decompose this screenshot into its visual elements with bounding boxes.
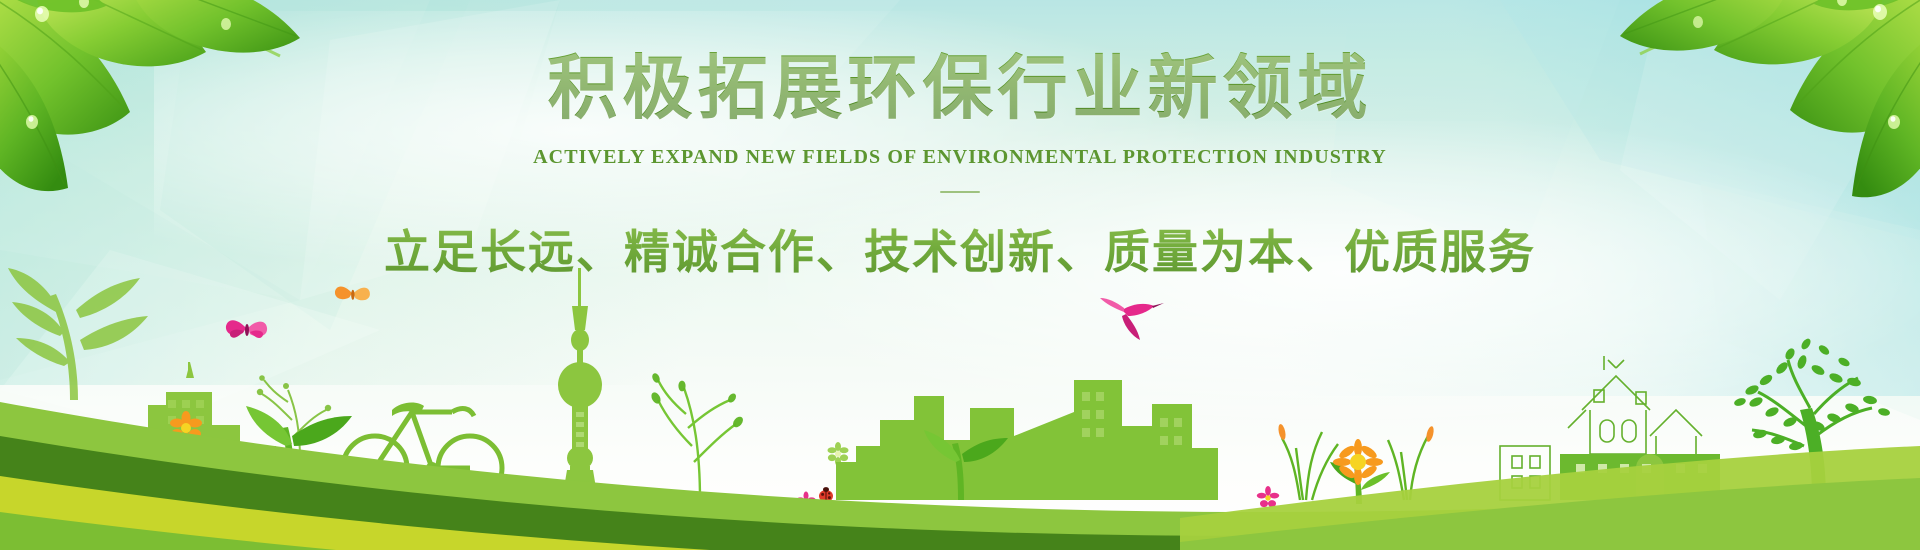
flower-icon	[1257, 486, 1279, 507]
sprout-icon	[8, 268, 148, 400]
page-title: 积极拓展环保行业新领域	[0, 52, 1920, 128]
headline-block: 积极拓展环保行业新领域 ACTIVELY EXPAND NEW FIELDS O…	[0, 52, 1920, 282]
slogan-text: 立足长远、精诚合作、技术创新、质量为本、优质服务	[0, 216, 1920, 282]
butterfly-icon	[226, 320, 267, 338]
cattail-icon	[1277, 424, 1287, 441]
house-icon	[1568, 356, 1702, 460]
scenery-layer	[0, 250, 1920, 550]
grass-icon	[1282, 432, 1338, 500]
eco-banner: 积极拓展环保行业新领域 ACTIVELY EXPAND NEW FIELDS O…	[0, 0, 1920, 550]
title-divider	[940, 191, 980, 193]
butterfly-icon	[335, 286, 370, 300]
grass-icon	[658, 380, 736, 500]
divider-wrap	[940, 191, 980, 194]
bird-icon	[1100, 298, 1164, 340]
tower-icon	[558, 268, 602, 500]
subtitle-english: ACTIVELY EXPAND NEW FIELDS OF ENVIRONMEN…	[0, 146, 1920, 169]
